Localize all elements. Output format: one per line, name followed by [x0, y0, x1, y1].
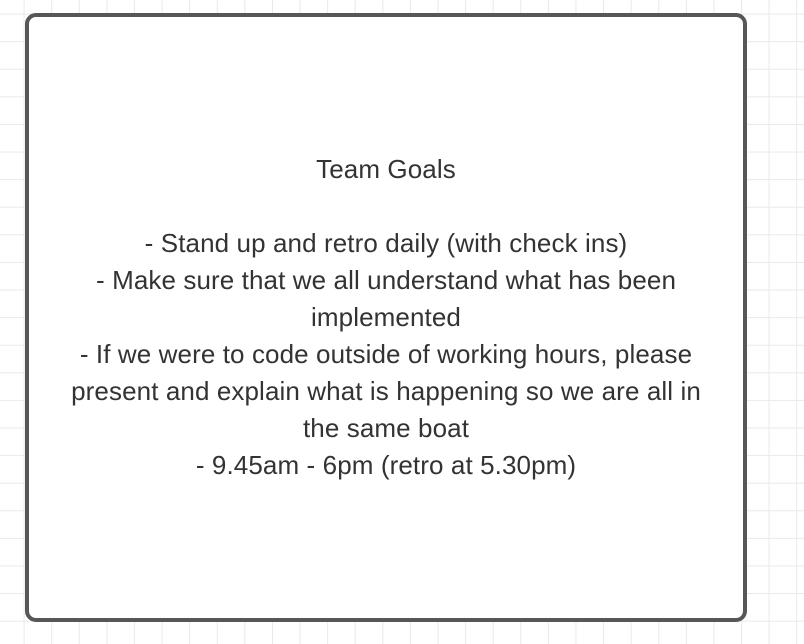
shape-body-text: - Stand up and retro daily (with check i…	[51, 225, 721, 484]
shape-rounded-rectangle[interactable]: Team Goals - Stand up and retro daily (w…	[25, 13, 747, 622]
shape-text-block: Team Goals - Stand up and retro daily (w…	[29, 151, 743, 484]
whiteboard-canvas[interactable]: Team Goals - Stand up and retro daily (w…	[0, 0, 804, 644]
shape-title: Team Goals	[51, 151, 721, 188]
shape-title-body-spacer	[51, 188, 721, 225]
